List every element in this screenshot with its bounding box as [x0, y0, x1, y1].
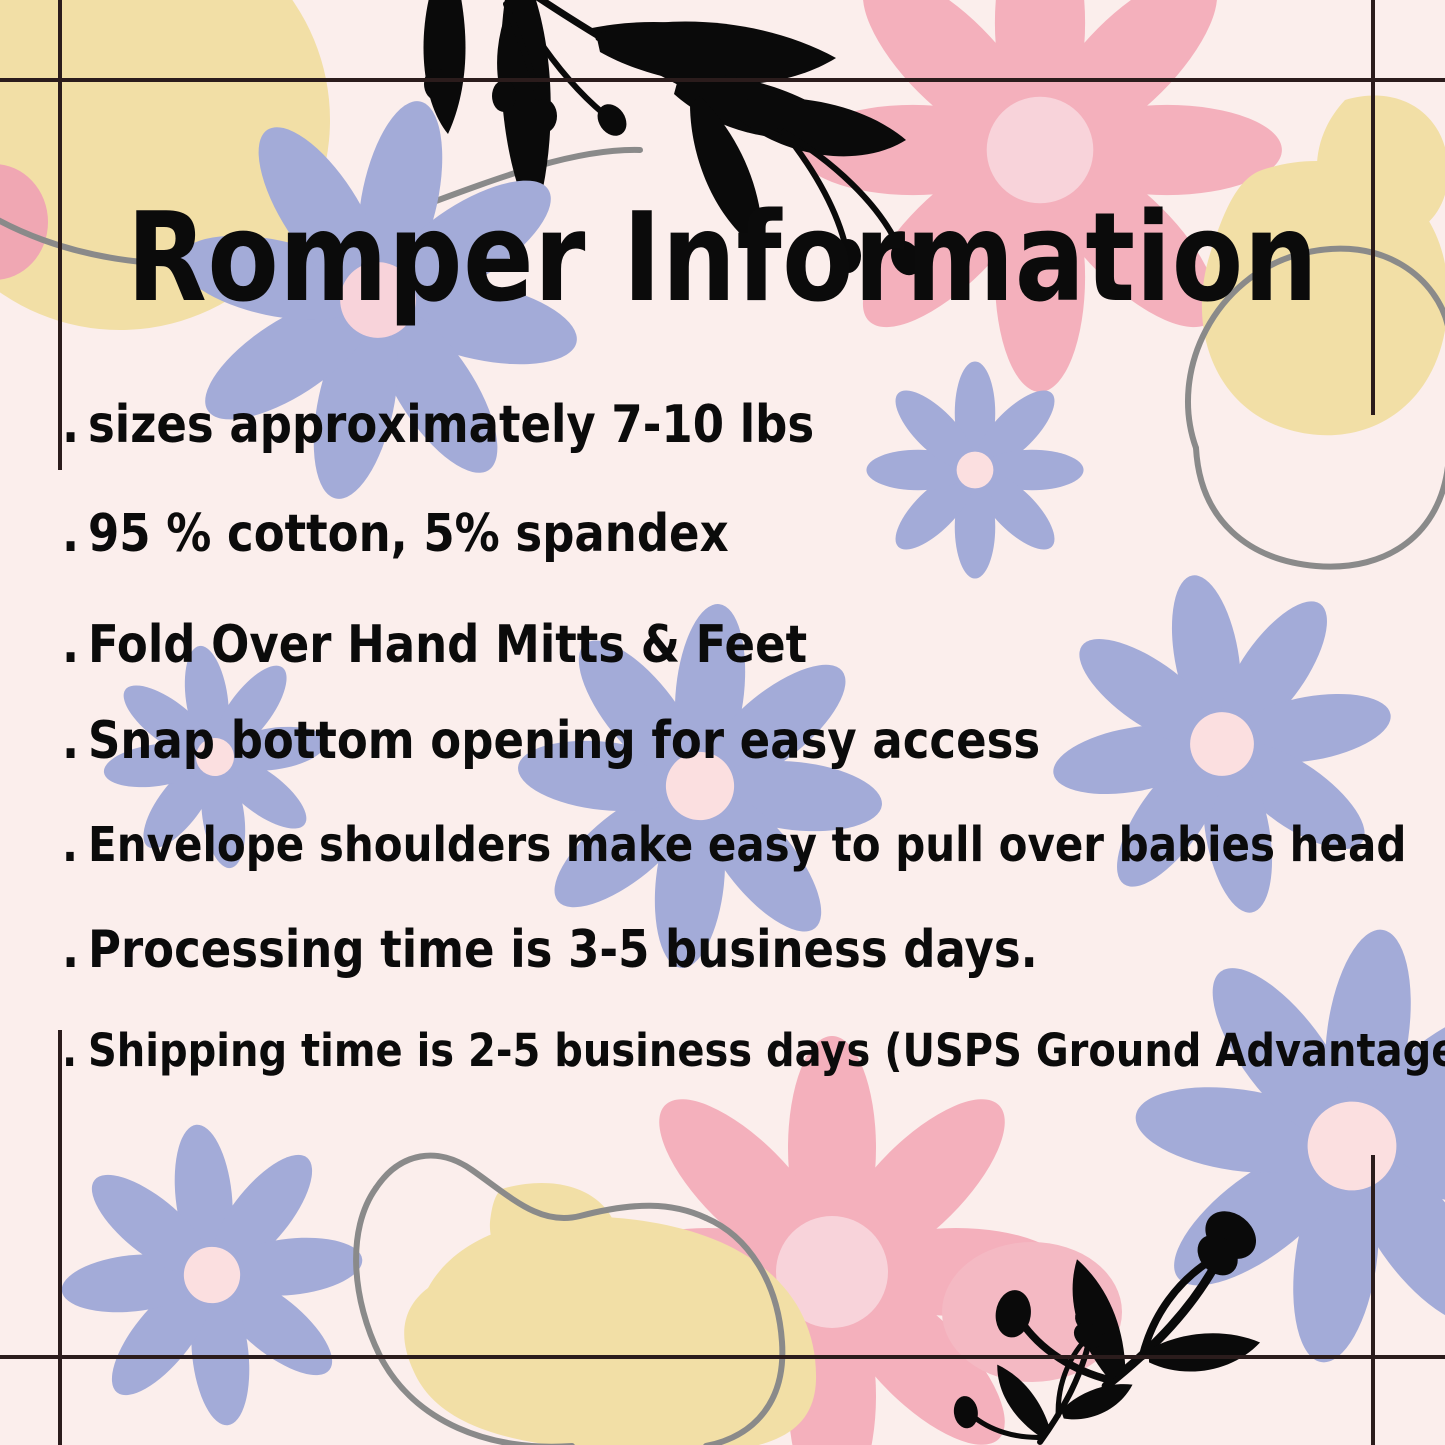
romper-information-poster: Romper Information . sizes approximately… [0, 0, 1445, 1445]
bullet-marker: . [62, 710, 88, 770]
list-item-label: Shipping time is 2-5 business days (USPS… [88, 1025, 1445, 1077]
list-item: . Processing time is 3-5 business days. [62, 919, 1422, 979]
bullet-marker: . [62, 919, 88, 979]
list-item-label: sizes approximately 7-10 lbs [88, 394, 814, 454]
bullet-marker: . [62, 503, 88, 563]
bullet-marker: . [62, 817, 88, 873]
list-item: . sizes approximately 7-10 lbs [62, 394, 1422, 454]
list-item: . Envelope shoulders make easy to pull o… [62, 817, 1422, 873]
bullet-marker: . [62, 394, 88, 454]
list-item: . Snap bottom opening for easy access [62, 710, 1422, 770]
list-item-label: Fold Over Hand Mitts & Feet [88, 614, 807, 674]
page-title: Romper Information [0, 196, 1445, 319]
bullet-marker: . [62, 1025, 88, 1077]
poster-content: Romper Information . sizes approximately… [0, 0, 1445, 1445]
list-item-label: 95 % cotton, 5% spandex [88, 503, 729, 563]
list-item: . 95 % cotton, 5% spandex [62, 503, 1422, 563]
list-item-label: Processing time is 3-5 business days. [88, 919, 1038, 979]
romper-details-list: . sizes approximately 7-10 lbs . 95 % co… [62, 398, 1422, 1074]
list-item: . Shipping time is 2-5 business days (US… [62, 1025, 1422, 1077]
bullet-marker: . [62, 614, 88, 674]
list-item-label: Snap bottom opening for easy access [88, 710, 1040, 770]
list-item: . Fold Over Hand Mitts & Feet [62, 614, 1422, 674]
list-item-label: Envelope shoulders make easy to pull ove… [88, 817, 1406, 873]
